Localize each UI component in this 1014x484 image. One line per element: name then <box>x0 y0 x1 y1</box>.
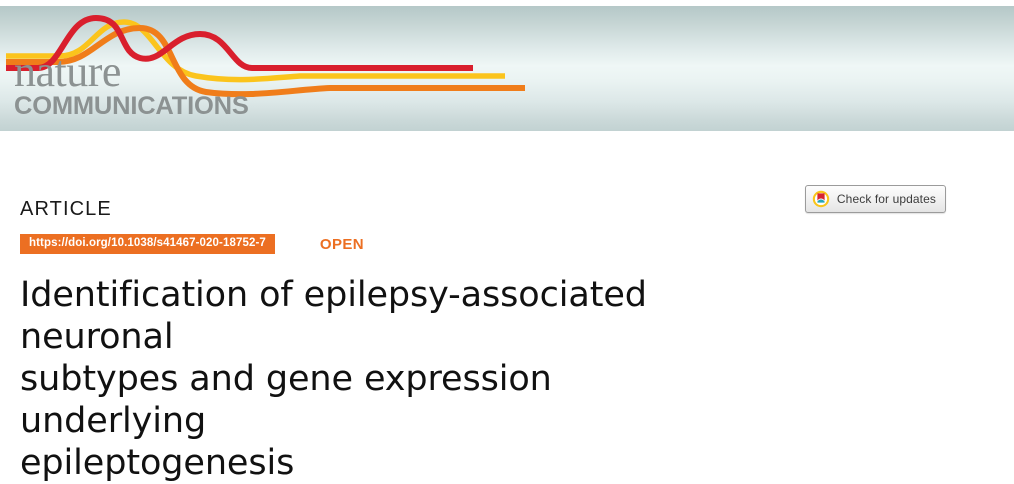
open-access-label: OPEN <box>320 236 364 253</box>
check-for-updates-label: Check for updates <box>837 192 936 206</box>
check-for-updates-button[interactable]: Check for updates <box>805 185 946 213</box>
article-title-line-3: epileptogenesis <box>20 443 294 483</box>
article-title-line-1: Identification of epilepsy-associated ne… <box>20 275 647 357</box>
doi-link[interactable]: https://doi.org/10.1038/s41467-020-18752… <box>20 234 275 254</box>
article-title: Identification of epilepsy-associated ne… <box>20 274 660 484</box>
article-header-area: ARTICLE Check for updates https://doi.or… <box>0 197 1014 484</box>
article-title-line-2: subtypes and gene expression underlying <box>20 359 552 441</box>
journal-masthead: nature COMMUNICATIONS <box>0 6 1014 131</box>
brand-communications-wordmark: COMMUNICATIONS <box>14 93 249 119</box>
doi-row: https://doi.org/10.1038/s41467-020-18752… <box>20 234 994 254</box>
crossmark-icon <box>812 190 830 208</box>
journal-brand: nature COMMUNICATIONS <box>14 52 244 119</box>
article-kicker-row: ARTICLE Check for updates <box>20 197 994 227</box>
brand-nature-wordmark: nature <box>14 52 244 92</box>
